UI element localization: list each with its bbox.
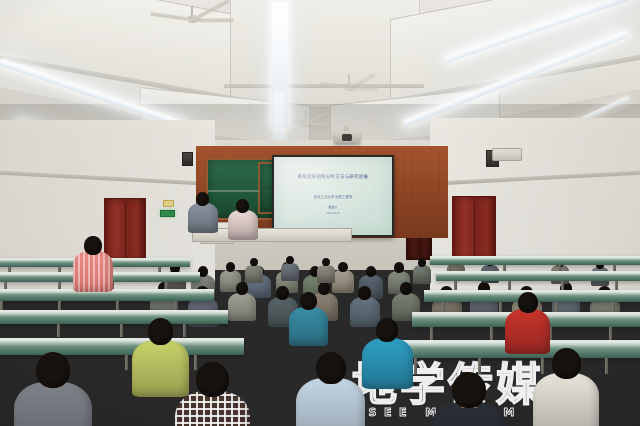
desk-leg: [605, 358, 608, 374]
projection-screen: 断裂变形组构分析方法与研究进展 西北工业大学·地质工程系 报告人 2013-05…: [274, 157, 392, 235]
person-torso: [505, 309, 550, 354]
person-head: [316, 352, 346, 384]
desk-row: [0, 338, 244, 355]
person-torso: [332, 270, 354, 292]
desk-leg: [183, 324, 186, 337]
desk-row: [436, 271, 640, 281]
person-torso: [132, 340, 189, 397]
person-torso: [14, 382, 92, 426]
person-head: [196, 192, 209, 206]
person-torso: [281, 263, 299, 281]
ceiling-fan: [282, 110, 330, 129]
person-head: [36, 352, 70, 388]
screen-glare: [274, 157, 392, 235]
projection-screen-frame: 断裂变形组构分析方法与研究进展 西北工业大学·地质工程系 报告人 2013-05…: [272, 155, 394, 237]
desk-leg: [478, 358, 481, 374]
wall-notice: [163, 200, 174, 207]
air-conditioner: [492, 148, 522, 161]
person-torso: [350, 297, 380, 327]
person-torso: [245, 265, 263, 283]
person-torso: [228, 210, 258, 240]
person-head: [276, 286, 289, 300]
person-head: [418, 258, 426, 267]
person-head: [394, 262, 404, 273]
ceiling-fan: [318, 74, 380, 99]
person-torso: [362, 338, 413, 389]
desk-leg: [120, 324, 123, 337]
person-head: [552, 348, 581, 379]
lecture-hall-photo: 断裂变形组构分析方法与研究进展 西北工业大学·地质工程系 报告人 2013-05…: [0, 0, 640, 426]
desk-leg: [125, 355, 128, 370]
person-head: [300, 292, 317, 310]
fan-blade: [150, 13, 192, 22]
person-head: [358, 286, 371, 300]
person-head: [376, 318, 398, 342]
desk-leg: [57, 324, 60, 337]
person-head: [236, 199, 249, 213]
person-head: [518, 292, 538, 313]
person-head: [338, 262, 348, 272]
person-torso: [296, 378, 365, 426]
person-torso: [413, 265, 432, 284]
person-head: [84, 236, 102, 255]
fan-blade: [192, 18, 234, 21]
desk-leg: [194, 355, 197, 370]
desk-row: [430, 256, 640, 265]
person-torso: [188, 203, 218, 233]
desk-leg: [541, 358, 544, 374]
person-head: [148, 318, 173, 345]
person-torso: [73, 251, 114, 292]
wall-speaker-icon: [182, 152, 193, 166]
desk-row: [0, 310, 228, 324]
desk-leg: [454, 281, 457, 290]
desk-leg: [615, 281, 618, 290]
left-door[interactable]: [104, 198, 146, 262]
desk-leg: [414, 358, 417, 374]
person-torso: [228, 293, 257, 322]
ceiling-fan: [146, 6, 238, 43]
person-head: [196, 362, 229, 397]
right-door[interactable]: [452, 196, 496, 264]
desk-leg: [430, 327, 433, 341]
person-torso: [533, 373, 599, 426]
exit-sign: [160, 210, 175, 217]
desk-leg: [561, 281, 564, 290]
desk-leg: [490, 327, 493, 341]
person-head: [250, 258, 258, 266]
desk-leg: [609, 327, 612, 341]
person-head: [322, 258, 330, 266]
ceiling-projector: [334, 131, 360, 143]
person-head: [452, 372, 486, 408]
person-torso: [317, 265, 335, 283]
person-head: [286, 256, 294, 264]
person-torso: [289, 307, 328, 346]
desk-leg: [508, 281, 511, 290]
